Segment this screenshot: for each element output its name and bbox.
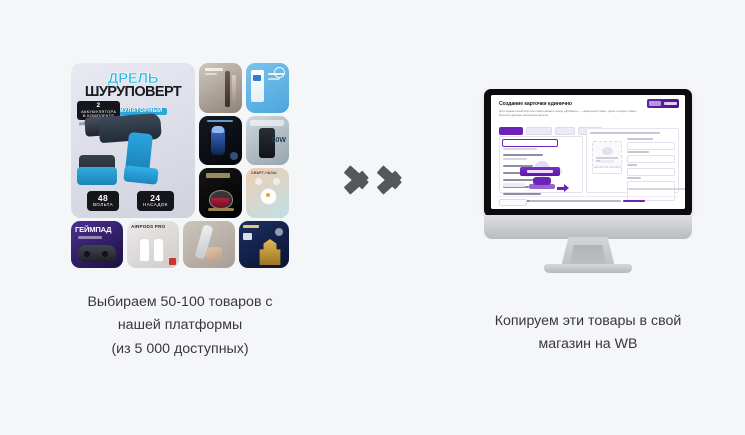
toothbrush-text-bar [205, 68, 223, 71]
logo-mark-icon [649, 101, 661, 106]
drill-bits-unit: НАСАДОК [143, 203, 168, 208]
drill-spare-battery-shape [77, 167, 117, 185]
left-panel-card [499, 136, 583, 193]
cream-label-shape [253, 75, 261, 81]
powerbank-power-label: 50W [272, 137, 286, 144]
page-subtitle-line2: Ememнте функцию заполнения карточки. [499, 114, 549, 117]
tab-zakazy[interactable] [555, 127, 575, 135]
page-subtitle-line1: Для создания новой карточки товара нажми… [499, 110, 637, 113]
chevron-right-icon-1 [344, 152, 378, 208]
upload-button[interactable] [600, 160, 614, 163]
double-chevron-right-icon [344, 152, 428, 208]
ui-footer [497, 196, 679, 206]
airpods-tile: AIRPODS PRO [127, 221, 179, 268]
product-collage: ДРЕЛЬ ШУРУПОВЕРТ АККУМУЛЯТОРНЫЙ 2 АККУМУ… [71, 63, 289, 268]
drill-illustration [75, 109, 191, 187]
drill-promo-tile: ДРЕЛЬ ШУРУПОВЕРТ АККУМУЛЯТОРНЫЙ 2 АККУМУ… [71, 63, 195, 218]
upload-placeholder-icon [602, 147, 613, 155]
footer-note-text [529, 200, 621, 202]
right-panel-card [586, 128, 679, 193]
lego-badge-shape [243, 233, 252, 240]
menu-row[interactable] [503, 154, 543, 156]
sku-field[interactable] [592, 167, 622, 174]
product-name-field[interactable] [627, 142, 675, 150]
imac-style-monitor: Создание карточки единично Для создания … [484, 89, 692, 274]
selected-menu-item[interactable] [502, 139, 558, 147]
electric-toothbrush-tile [199, 63, 242, 113]
smartwatch-accent-a [255, 178, 262, 185]
menu-row[interactable] [503, 148, 537, 150]
upload-hint-text [596, 157, 618, 159]
panel-header-text [590, 132, 660, 134]
face-cream-tile [246, 63, 289, 113]
lego-title-bar [243, 225, 259, 228]
create-product-button[interactable] [520, 167, 560, 176]
flow-arrow-head [564, 184, 569, 192]
menu-row[interactable] [503, 158, 527, 160]
monitor-screen: Создание карточки единично Для создания … [491, 95, 685, 209]
field-label-article [627, 151, 649, 153]
category-field[interactable] [627, 168, 675, 176]
footer-note-accent [623, 200, 645, 202]
monitor-bezel: Создание карточки единично Для создания … [484, 89, 692, 217]
drill-voltage-unit: ВОЛЬТА [93, 203, 113, 208]
lego-moon-shape [275, 228, 283, 236]
gamepad-tile: ГЕЙМПАД [71, 221, 123, 268]
teapot-coaster-shape [208, 208, 234, 211]
field-label-name [627, 138, 653, 140]
drill-voltage-pill: 48 ВОЛЬТА [87, 191, 119, 211]
flow-arrow-icon [557, 184, 569, 192]
field-label-category [627, 164, 637, 166]
right-caption-line-2: магазин на WB [450, 333, 726, 356]
logo-wordmark [664, 102, 677, 105]
teapot-text-bar [206, 173, 230, 178]
tab-kartochki[interactable] [526, 127, 552, 135]
right-caption: Копируем эти товары в свой магазин на WB [450, 310, 726, 357]
lego-castle-tile [239, 221, 289, 268]
drill-bits-pill: 24 НАСАДОК [137, 191, 174, 211]
page-subtitle: Для создания новой карточки товара нажми… [499, 110, 677, 118]
hand-shape [206, 247, 222, 261]
tab-tovary[interactable] [499, 127, 523, 135]
airpods-label: AIRPODS PRO [131, 225, 165, 230]
monitor-chin [484, 215, 692, 239]
create-product-button-label [527, 170, 553, 173]
left-caption-line-1: Выбираем 50-100 товаров с [42, 291, 318, 314]
drill-battery-shape [123, 165, 158, 184]
cream-seal-icon [274, 67, 285, 78]
teapot-tea-shape [211, 198, 229, 207]
left-caption-line-2: нашей платформы [42, 314, 318, 337]
powerbank-banner-shape [250, 120, 284, 126]
left-caption: Выбираем 50-100 товаров с нашей платформ… [42, 291, 318, 361]
illustration-base [529, 184, 555, 189]
flow-arrow-shaft [557, 187, 564, 190]
cream-text-bar2 [268, 78, 280, 80]
infographic-canvas: ДРЕЛЬ ШУРУПОВЕРТ АККУМУЛЯТОРНЫЙ 2 АККУМУ… [0, 0, 745, 435]
field-label-description [627, 177, 641, 179]
helper-text [627, 188, 685, 190]
shaver-badge-icon [230, 152, 238, 160]
media-upload-dropzone[interactable] [592, 141, 622, 167]
airpods-badge-icon [169, 258, 176, 265]
airpod-right-shape [153, 238, 164, 262]
shaver-head-shape [212, 126, 224, 133]
gamepad-label: ГЕЙМПАД [75, 226, 111, 234]
powerbank-tile: 50W [246, 116, 289, 165]
back-to-cards-button[interactable] [499, 199, 527, 206]
shaver-text-bar [207, 120, 233, 122]
gamepad-stick-right [102, 251, 108, 257]
toothbrush-text-bar2 [205, 73, 217, 75]
right-caption-line-1: Копируем эти товары в свой [450, 310, 726, 333]
smartwatch-label: СМАРТ-ЧАСЫ [251, 172, 277, 175]
toothbrush-body-shape [225, 71, 230, 107]
gamepad-stick-left [84, 251, 90, 257]
secondary-action[interactable] [503, 183, 525, 187]
wb-seller-portal-ui: Создание карточки единично Для создания … [491, 95, 685, 209]
electric-shaver-tile [199, 116, 242, 165]
toothbrush-head-shape [232, 75, 236, 105]
article-field[interactable] [627, 155, 675, 163]
airpod-left-shape [139, 238, 150, 262]
gamepad-subtitle-bar [78, 236, 102, 239]
curling-iron-tile [183, 221, 235, 268]
wildberries-logo [647, 99, 679, 108]
lego-castle-shape [257, 239, 283, 265]
smartwatch-dial-shape [266, 193, 270, 197]
drill-title-line2: ШУРУПОВЕРТ [77, 85, 189, 100]
left-caption-line-3: (из 5 000 доступных) [42, 338, 318, 361]
smartwatch-accent-b [273, 178, 280, 185]
monitor-stand-base [544, 264, 632, 273]
chevron-right-icon-2 [377, 152, 411, 208]
glass-teapot-tile [199, 168, 242, 218]
smartwatch-tile: СМАРТ-ЧАСЫ [246, 168, 289, 218]
menu-row[interactable] [503, 193, 541, 195]
